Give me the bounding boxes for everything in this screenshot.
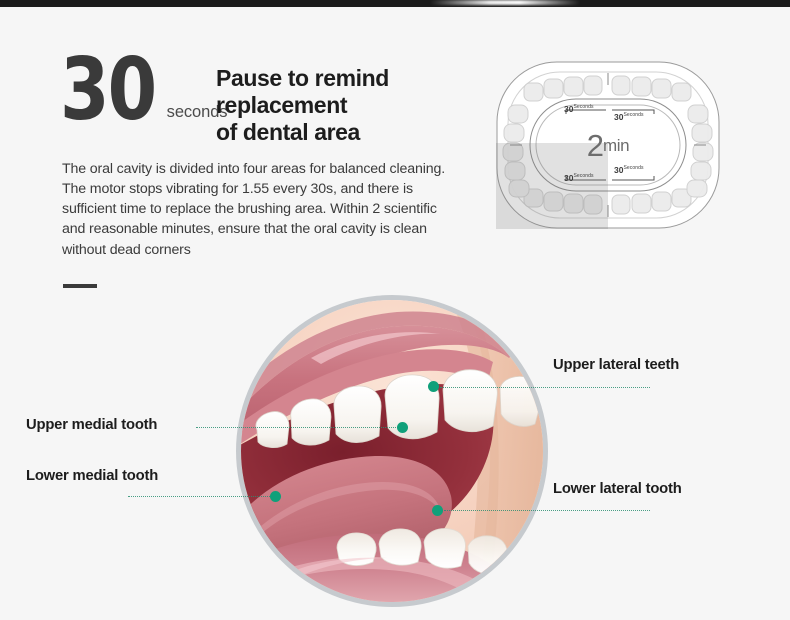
top-strip-highlight bbox=[430, 0, 580, 5]
page-title-line-1: Pause to remind bbox=[216, 65, 446, 92]
mouth-illustration bbox=[241, 300, 543, 602]
headline-number-group: 30 seconds bbox=[60, 55, 227, 126]
marker-dot-upper-lateral bbox=[428, 381, 439, 392]
product-feature-page: 30 seconds Pause to remind replacement o… bbox=[0, 0, 790, 620]
open-mouth-teeth-photo bbox=[236, 295, 548, 607]
callout-lower-lateral-tooth: Lower lateral tooth bbox=[553, 481, 682, 497]
quadrant-label-upper-left: 30Seconds bbox=[564, 105, 594, 114]
leader-line-upper-lateral bbox=[440, 387, 650, 389]
quadrant-label-lower-left: 30Seconds bbox=[564, 174, 594, 183]
page-title: Pause to remind replacement of dental ar… bbox=[216, 65, 446, 146]
page-title-line-2: replacement bbox=[216, 92, 446, 119]
section-divider bbox=[63, 284, 97, 288]
marker-dot-lower-medial bbox=[270, 491, 281, 502]
callout-upper-medial-tooth: Upper medial tooth bbox=[26, 417, 157, 433]
callout-lower-medial-tooth: Lower medial tooth bbox=[26, 468, 158, 484]
big-number-30: 30 bbox=[60, 55, 155, 126]
leader-line-lower-lateral bbox=[444, 510, 650, 512]
quadrant-label-upper-right: 30Seconds bbox=[614, 113, 644, 122]
quadrant-unit-lower-left: Seconds bbox=[573, 173, 593, 179]
content-canvas: 30 seconds Pause to remind replacement o… bbox=[0, 7, 790, 620]
quadrant-unit-lower-right: Seconds bbox=[623, 165, 643, 171]
leader-line-upper-medial bbox=[196, 427, 402, 429]
callout-upper-lateral-teeth: Upper lateral teeth bbox=[553, 357, 679, 373]
quadrant-unit-upper-right: Seconds bbox=[623, 112, 643, 118]
body-paragraph: The oral cavity is divided into four are… bbox=[62, 159, 462, 260]
page-title-line-3: of dental area bbox=[216, 119, 446, 146]
diagram-graphic bbox=[496, 61, 720, 229]
quadrant-unit-upper-left: Seconds bbox=[573, 104, 593, 110]
photo-image bbox=[241, 300, 543, 602]
leader-line-lower-medial bbox=[128, 496, 276, 498]
top-dark-strip bbox=[0, 0, 790, 7]
quadrant-label-lower-right: 30Seconds bbox=[614, 166, 644, 175]
marker-dot-upper-medial bbox=[397, 422, 408, 433]
dental-quadrant-timer-diagram: 2min 30Seconds 30Seconds 30Seconds 30Sec… bbox=[496, 61, 720, 229]
marker-dot-lower-lateral bbox=[432, 505, 443, 516]
